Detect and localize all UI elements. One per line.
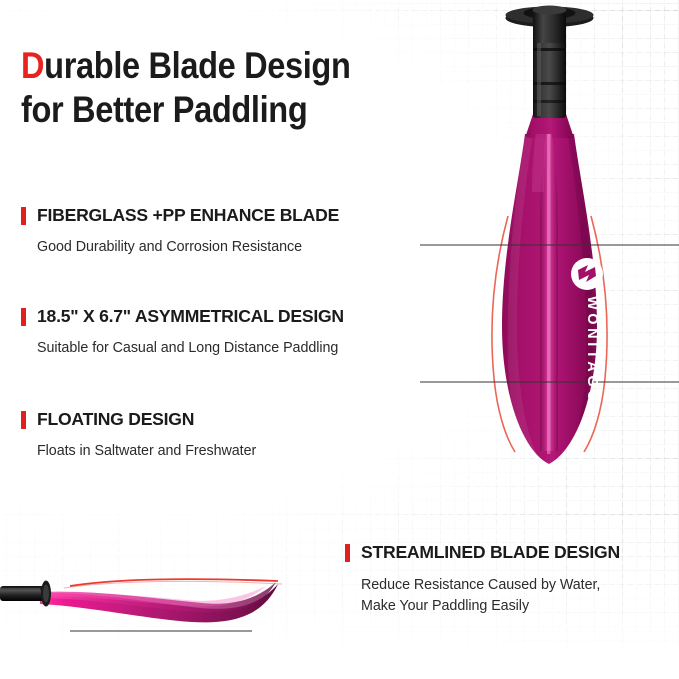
infographic-page: Durable Blade Design for Better Paddling…: [0, 0, 679, 679]
feature-subtitle: Suitable for Casual and Long Distance Pa…: [37, 338, 421, 359]
feature-heading: 18.5" X 6.7" ASYMMETRICAL DESIGN: [21, 306, 421, 327]
profile-shaft: [0, 581, 51, 607]
feature-title: FLOATING DESIGN: [37, 409, 194, 430]
feature-subtitle: Floats in Saltwater and Freshwater: [37, 441, 421, 462]
feature-item-floating: FLOATING DESIGN Floats in Saltwater and …: [21, 409, 421, 462]
red-bar-marker-icon: [21, 308, 26, 326]
feature-heading: FLOATING DESIGN: [21, 409, 421, 430]
feature-subtitle: Good Durability and Corrosion Resistance: [37, 237, 421, 258]
feature-subtitle: Reduce Resistance Caused by Water, Make …: [361, 575, 675, 617]
red-bar-marker-icon: [21, 411, 26, 429]
feature-heading: STREAMLINED BLADE DESIGN: [345, 542, 675, 563]
feature-item-fiberglass: FIBERGLASS +PP ENHANCE BLADE Good Durabi…: [21, 205, 421, 258]
brand-name: WONITAGO: [584, 296, 600, 405]
paddle-blade-profile-view: [0, 548, 345, 653]
page-title: Durable Blade Design for Better Paddling: [21, 44, 373, 132]
brand-logo: [571, 258, 603, 290]
title-line-2: for Better Paddling: [21, 89, 307, 130]
title-dropcap: D: [21, 45, 44, 86]
feature-title: STREAMLINED BLADE DESIGN: [361, 542, 620, 563]
feature-item-asymmetrical: 18.5" X 6.7" ASYMMETRICAL DESIGN Suitabl…: [21, 306, 421, 359]
feature-item-streamlined: STREAMLINED BLADE DESIGN Reduce Resistan…: [345, 542, 675, 617]
red-bar-marker-icon: [345, 544, 350, 562]
paddle-blade-front-view: WONITAGO: [420, 0, 679, 496]
red-bar-marker-icon: [21, 207, 26, 225]
paddle-blade-front-svg: WONITAGO: [420, 0, 679, 496]
feature-title: FIBERGLASS +PP ENHANCE BLADE: [37, 205, 339, 226]
feature-title: 18.5" X 6.7" ASYMMETRICAL DESIGN: [37, 306, 344, 327]
blade-ferrule: [506, 6, 594, 119]
feature-heading: FIBERGLASS +PP ENHANCE BLADE: [21, 205, 421, 226]
title-line-1: urable Blade Design: [44, 45, 350, 86]
paddle-blade-profile-svg: [0, 548, 345, 653]
